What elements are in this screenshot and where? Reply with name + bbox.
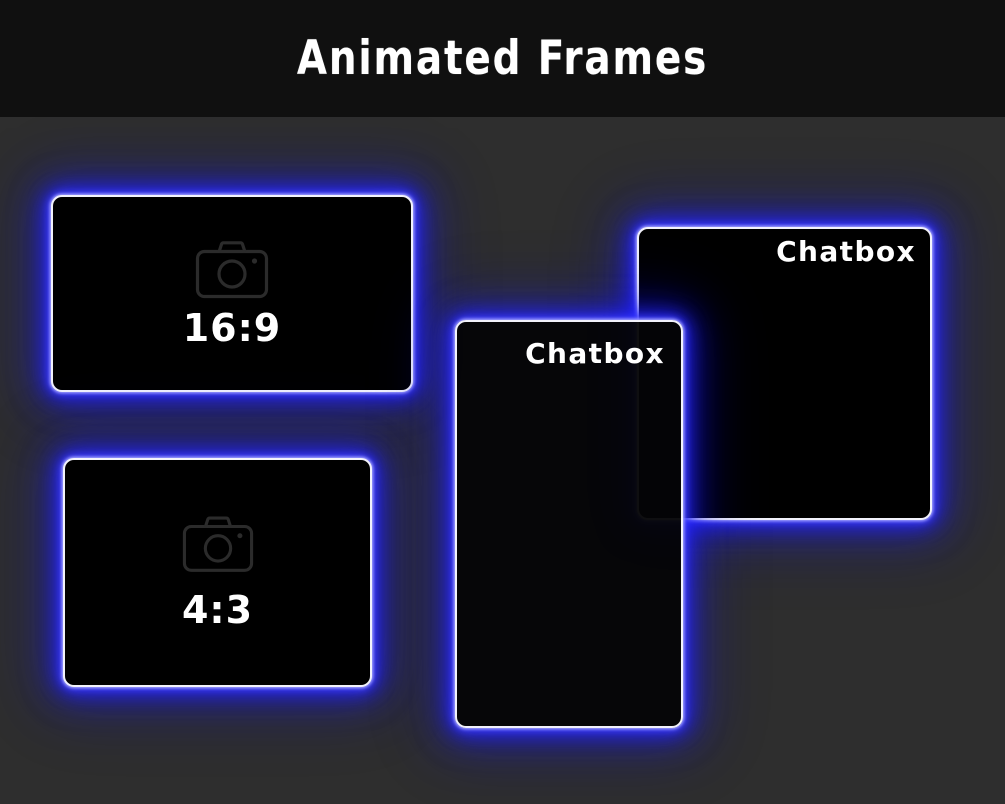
chatbox-title: Chatbox — [525, 340, 665, 368]
aspect-ratio-label: 4:3 — [182, 591, 253, 629]
frames-stage: 16:9 4:3 Chatbox Chatbox — [0, 117, 1005, 804]
app-header: Animated Frames — [0, 0, 1005, 117]
camera-icon — [182, 516, 254, 573]
frame-card-16-9[interactable]: 16:9 — [51, 195, 413, 392]
camera-icon — [195, 241, 269, 299]
chatbox-title: Chatbox — [776, 238, 916, 266]
page-title: Animated Frames — [297, 31, 708, 86]
frame-card-4-3[interactable]: 4:3 — [63, 458, 372, 687]
aspect-ratio-label: 16:9 — [183, 309, 282, 347]
frame-card-chatbox-vertical[interactable]: Chatbox — [455, 320, 683, 728]
